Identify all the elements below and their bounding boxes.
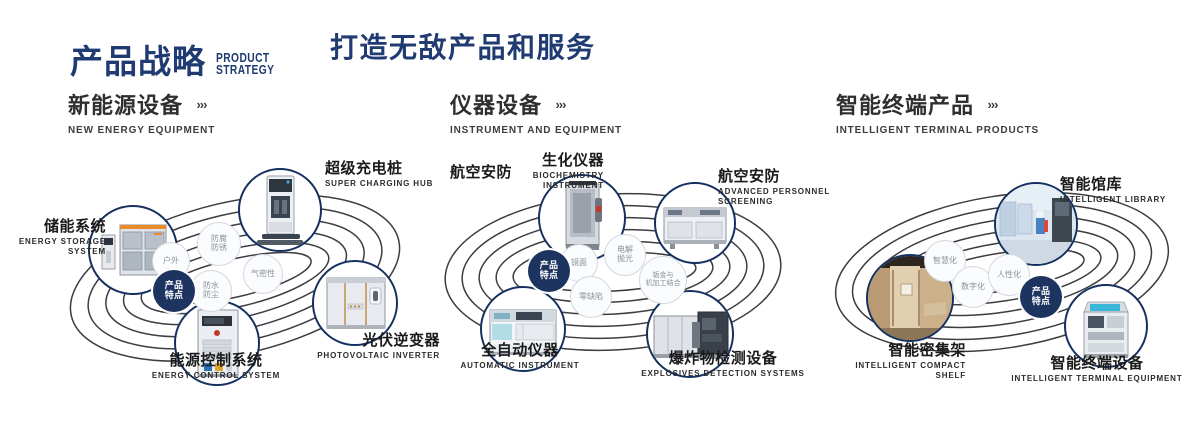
caption-cn: 储能系统 — [8, 218, 106, 235]
feature-bubble-airtight: 气密性 — [243, 254, 283, 294]
chevron-right-icon: ››› — [555, 97, 565, 112]
caption-cn: 智能馆库 — [1060, 176, 1200, 193]
cluster-intelligent-terminal: 智能馆库 INTELLIGENT LIBRARY 智能密集架 INTELLIGE… — [812, 150, 1200, 400]
caption-intelligent-library: 智能馆库 INTELLIGENT LIBRARY — [1060, 176, 1200, 205]
feature-bubble-text: 电解 抛光 — [617, 246, 633, 264]
cluster-instrument: 航空安防 生化仪器 BIOCHEMISTRY INSTRUMENT — [418, 150, 808, 395]
feature-bubble-waterproof: 防水 防尘 — [190, 270, 232, 312]
caption-biochemistry-instrument: 生化仪器 BIOCHEMISTRY INSTRUMENT — [434, 152, 604, 191]
caption-en: INTELLIGENT TERMINAL EQUIPMENT — [992, 374, 1200, 384]
page-title-cn: 产品战略 — [70, 45, 206, 78]
section-title-en-new-energy: NEW ENERGY EQUIPMENT — [68, 124, 215, 136]
caption-en: BIOCHEMISTRY INSTRUMENT — [434, 171, 604, 191]
section-title-en-intelligent: INTELLIGENT TERMINAL PRODUCTS — [836, 124, 1039, 136]
core-badge-text: 产品 特点 — [165, 281, 184, 302]
core-badge-product-features: 产品 特点 — [153, 270, 195, 312]
feature-bubble-anticorrosion: 防腐 防锈 — [197, 222, 241, 266]
caption-intelligent-terminal-equipment: 智能终端设备 INTELLIGENT TERMINAL EQUIPMENT — [992, 355, 1200, 384]
page-title-en: PRODUCT STRATEGY — [216, 52, 274, 76]
section-title-en-instrument: INSTRUMENT AND EQUIPMENT — [450, 124, 622, 136]
section-title-cn-new-energy: 新能源设备 — [68, 95, 183, 119]
section-title-cn-instrument: 仪器设备 — [450, 95, 542, 119]
caption-automatic-instrument: 全自动仪器 AUTOMATIC INSTRUMENT — [410, 342, 630, 371]
caption-en: INTELLIGENT COMPACT SHELF — [776, 361, 966, 381]
caption-intelligent-compact-shelf: 智能密集架 INTELLIGENT COMPACT SHELF — [776, 342, 966, 381]
chevron-right-icon: ››› — [196, 97, 206, 112]
page-title: 产品战略 PRODUCT STRATEGY — [70, 26, 287, 78]
caption-en: ENERGY CONTROL SYSTEM — [86, 371, 346, 381]
caption-cn: 智能终端设备 — [992, 355, 1200, 372]
section-title-cn-intelligent: 智能终端产品 — [836, 95, 974, 119]
core-badge-text: 产品 特点 — [540, 261, 559, 282]
feature-bubble-sheetmetal-machining: 钣金与 机加工结合 — [639, 256, 687, 304]
core-badge-text: 产品 特点 — [1032, 287, 1051, 308]
feature-bubble-text: 防水 防尘 — [203, 282, 219, 300]
caption-en: AUTOMATIC INSTRUMENT — [410, 361, 630, 371]
page-subtitle: 打造无敌产品和服务 — [330, 34, 596, 62]
caption-en: INTELLIGENT LIBRARY — [1060, 195, 1200, 205]
feature-bubble-text: 防腐 防锈 — [211, 235, 227, 253]
core-badge-product-features: 产品 特点 — [528, 250, 570, 292]
caption-cn: 智能密集架 — [776, 342, 966, 359]
caption-energy-control-system: 能源控制系统 ENERGY CONTROL SYSTEM — [86, 352, 346, 381]
feature-bubble-zero-defect: 零缺陷 — [570, 276, 612, 318]
section-heading-new-energy: 新能源设备 ››› NEW ENERGY EQUIPMENT — [68, 95, 223, 136]
node-super-charging-hub[interactable] — [238, 168, 322, 252]
section-heading-intelligent: 智能终端产品 ››› INTELLIGENT TERMINAL PRODUCTS — [836, 95, 1050, 136]
caption-energy-storage-system: 储能系统 ENERGY STORAGE SYSTEM — [8, 218, 106, 257]
feature-bubble-electropolishing: 电解 抛光 — [604, 234, 646, 276]
charging-pile-photo — [240, 170, 320, 250]
feature-bubble-text: 钣金与 机加工结合 — [646, 272, 681, 288]
caption-en: ENERGY STORAGE SYSTEM — [8, 237, 106, 257]
caption-cn: 生化仪器 — [434, 152, 604, 169]
section-heading-instrument: 仪器设备 ››› INSTRUMENT AND EQUIPMENT — [450, 95, 631, 136]
page-title-en-line2: STRATEGY — [216, 64, 274, 76]
caption-cn: 全自动仪器 — [410, 342, 630, 359]
core-badge-product-features: 产品 特点 — [1020, 276, 1062, 318]
infographic-page: 产品战略 PRODUCT STRATEGY 打造无敌产品和服务 新能源设备 ››… — [0, 0, 1200, 422]
cluster-new-energy: 储能系统 ENERGY STORAGE SYSTEM 超级充电桩 — [40, 150, 430, 395]
chevron-right-icon: ››› — [987, 97, 997, 112]
caption-cn: 能源控制系统 — [86, 352, 346, 369]
